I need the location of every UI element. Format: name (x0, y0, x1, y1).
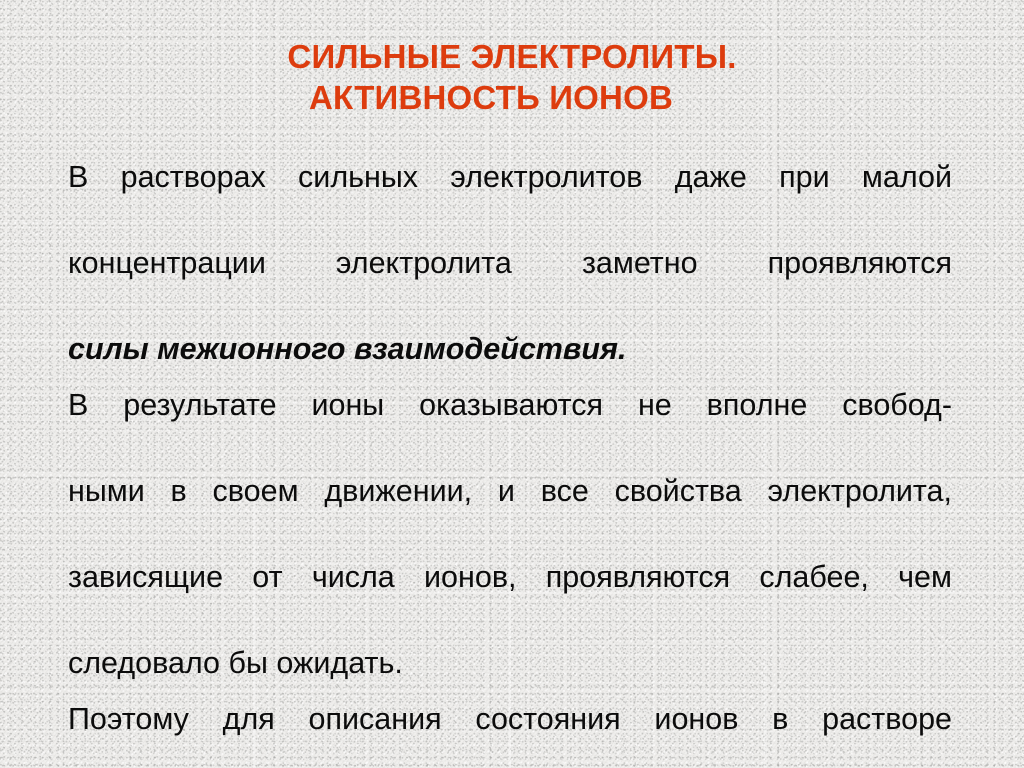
slide-title: СИЛЬНЫЕ ЭЛЕКТРОЛИТЫ. АКТИВНОСТЬ ИОНОВ (0, 36, 1024, 118)
paragraph-1-line-2: концентрации электролита заметно проявля… (68, 242, 952, 328)
title-line-2: АКТИВНОСТЬ ИОНОВ (0, 77, 1024, 118)
paragraph-2-line-3: зависящие от числа ионов, проявляются сл… (68, 556, 952, 642)
paragraph-1: В растворах сильных электролитов даже пр… (68, 156, 952, 371)
paragraph-1-line-1: В растворах сильных электролитов даже пр… (68, 156, 952, 242)
title-line-1: СИЛЬНЫЕ ЭЛЕКТРОЛИТЫ. (0, 36, 1024, 77)
paragraph-3-line-1: Поэтому для описания состояния ионов в р… (68, 698, 952, 768)
slide-canvas: СИЛЬНЫЕ ЭЛЕКТРОЛИТЫ. АКТИВНОСТЬ ИОНОВ В … (0, 0, 1024, 768)
paragraph-3: Поэтому для описания состояния ионов в р… (68, 698, 952, 768)
paragraph-2-line-4: следовало бы ожидать. (68, 642, 952, 685)
slide-body: В растворах сильных электролитов даже пр… (68, 156, 952, 768)
paragraph-2-line-2: ными в своем движении, и все свойства эл… (68, 470, 952, 556)
paragraph-2-line-1: В результате ионы оказываются не вполне … (68, 384, 952, 470)
paragraph-1-line-3-emphasis: силы межионного взаимодействия. (68, 328, 952, 371)
paragraph-2: В результате ионы оказываются не вполне … (68, 384, 952, 685)
